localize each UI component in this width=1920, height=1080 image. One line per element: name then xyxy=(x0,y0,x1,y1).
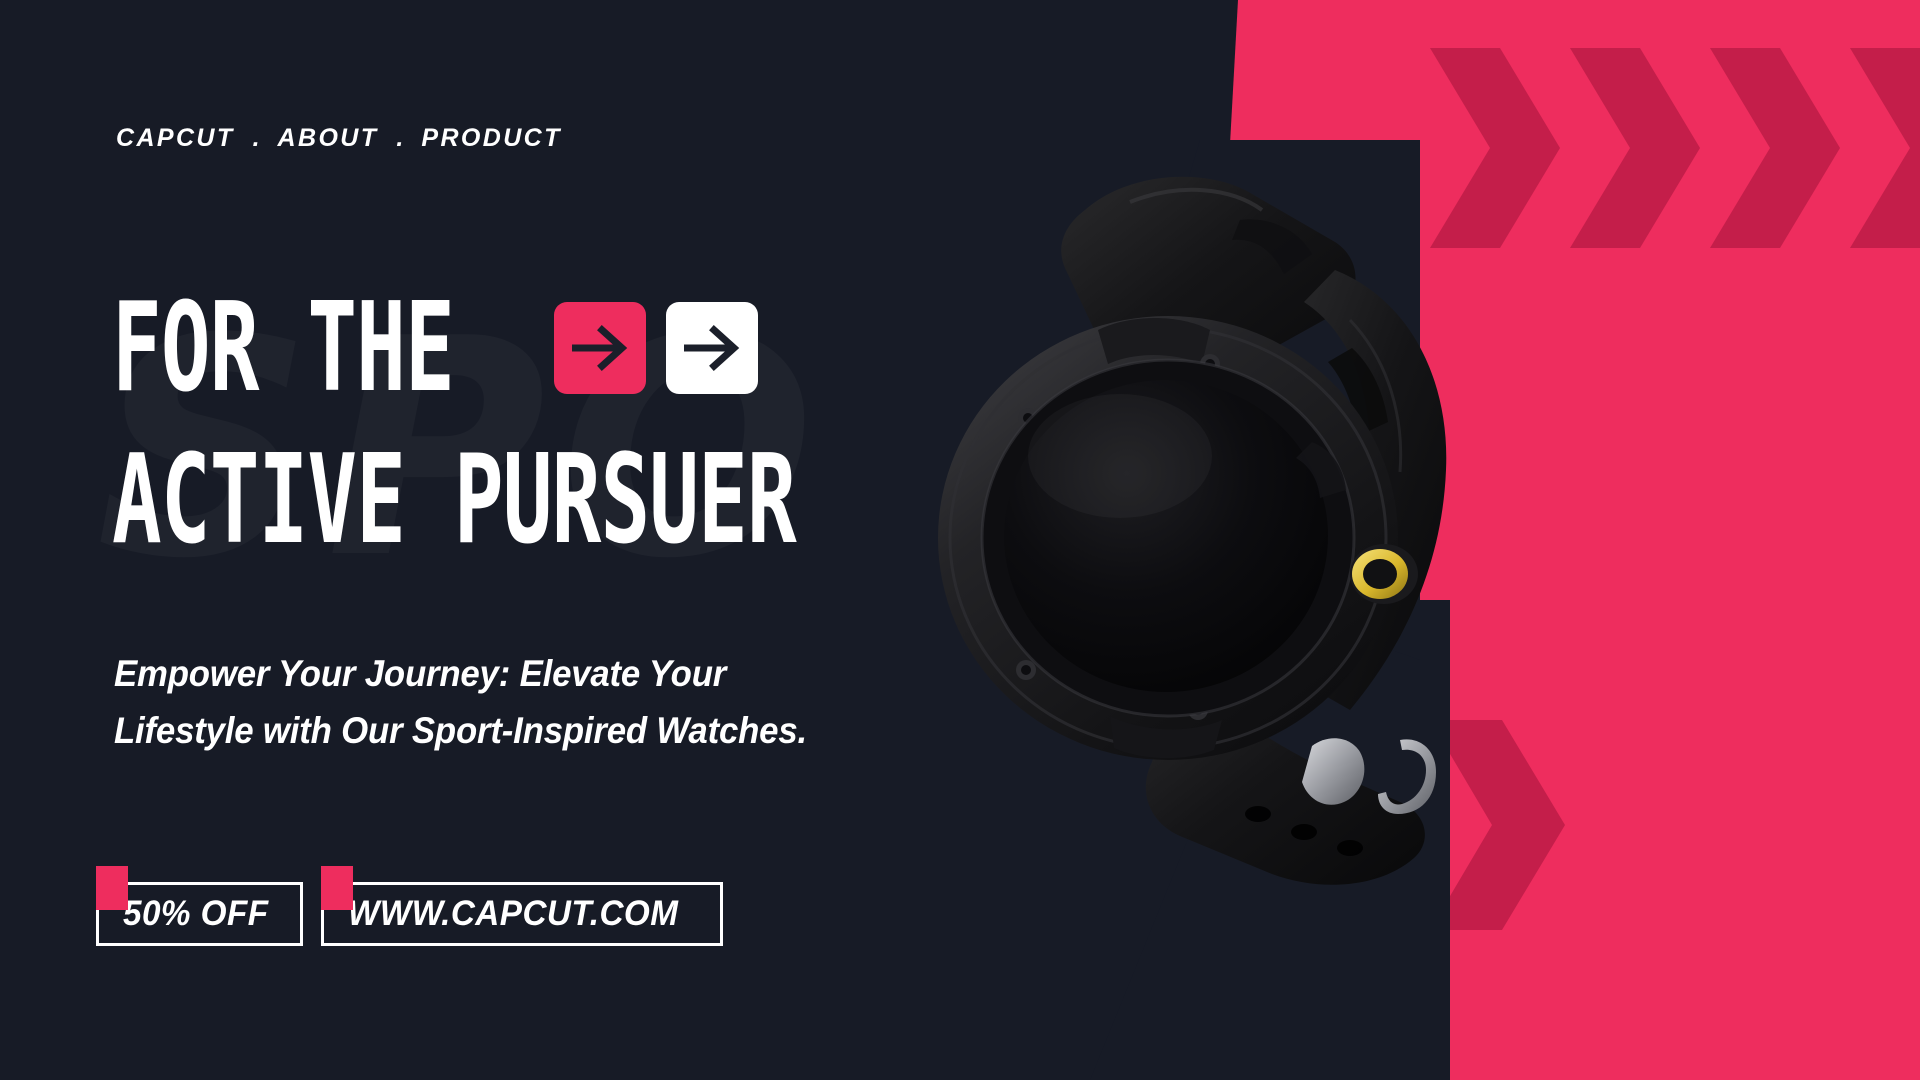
banner-canvas: SPO CAPCUT . ABOUT . PRODUCT FOR THE xyxy=(0,0,1920,1080)
website-badge-label: WWW.CAPCUT.COM xyxy=(348,894,678,934)
product-image-smartwatch xyxy=(880,150,1600,930)
badge-corner-square xyxy=(321,866,353,910)
subheading-line-2: Lifestyle with Our Sport-Inspired Watche… xyxy=(114,702,904,759)
arrow-right-icon xyxy=(684,323,740,373)
nav-separator: . xyxy=(235,124,278,153)
arrow-right-icon xyxy=(572,323,628,373)
website-badge[interactable]: WWW.CAPCUT.COM xyxy=(321,866,723,946)
cta-button-group xyxy=(554,302,758,394)
chevron-icon xyxy=(1850,48,1920,248)
cta-arrow-button-secondary[interactable] xyxy=(666,302,758,394)
headline-line-1: FOR THE xyxy=(112,287,454,410)
discount-badge-label: 50% OFF xyxy=(123,894,269,934)
badge-corner-square xyxy=(96,866,128,910)
cta-arrow-button-primary[interactable] xyxy=(554,302,646,394)
website-badge-box: WWW.CAPCUT.COM xyxy=(321,882,723,946)
subheading-block: Empower Your Journey: Elevate Your Lifes… xyxy=(114,645,904,759)
discount-badge[interactable]: 50% OFF xyxy=(96,866,303,946)
chevron-icon xyxy=(1710,48,1840,248)
nav-item-capcut[interactable]: CAPCUT xyxy=(116,124,235,153)
headline-line-2: ACTIVE PURSUER xyxy=(112,439,955,562)
nav-separator: . xyxy=(378,124,421,153)
watch-crown-button xyxy=(1350,544,1418,604)
nav-item-product[interactable]: PRODUCT xyxy=(421,124,561,153)
footer-badge-row: 50% OFF WWW.CAPCUT.COM xyxy=(96,866,723,946)
subheading-line-1: Empower Your Journey: Elevate Your xyxy=(114,645,904,702)
nav-item-about[interactable]: ABOUT xyxy=(278,124,379,153)
top-navigation: CAPCUT . ABOUT . PRODUCT xyxy=(116,124,562,153)
